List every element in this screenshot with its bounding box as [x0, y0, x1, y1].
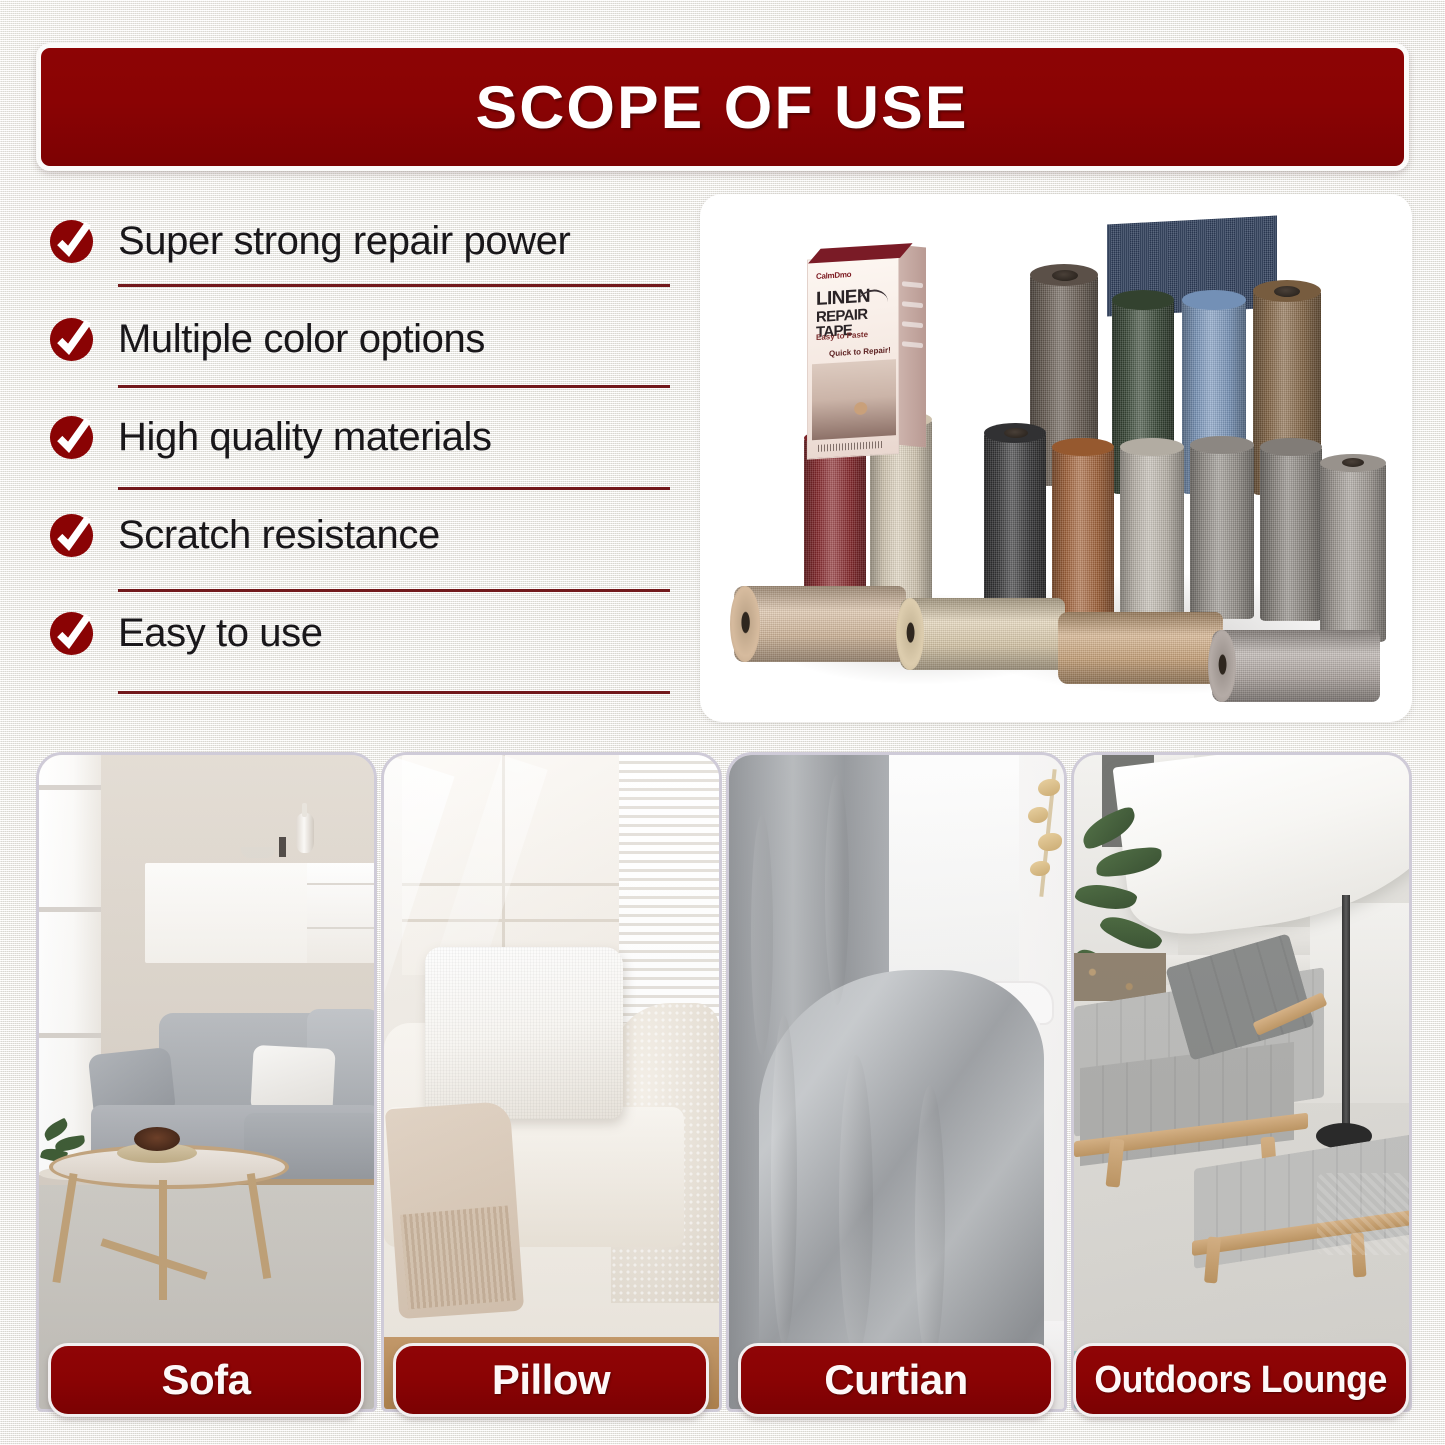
box-specs-strip	[818, 441, 884, 452]
box-top-flap	[808, 243, 913, 263]
check-circle-icon	[48, 610, 95, 657]
tape-roll-core	[1342, 458, 1364, 467]
product-photo-card: CalmDmo LINEN REPAIR TAPE Easy to Paste …	[700, 194, 1412, 722]
scene-gallery: Sofa Pillow Curtian Outdoors Lounge	[0, 752, 1445, 1445]
tape-roll-rust	[1052, 446, 1114, 616]
tape-roll-core	[1274, 286, 1300, 297]
check-circle-icon	[48, 218, 95, 265]
tape-roll-warm-gray	[1320, 462, 1386, 642]
header-banner: SCOPE OF USE	[36, 43, 1409, 171]
box-side-panel	[899, 245, 926, 448]
tape-roll-tan-lying	[1058, 612, 1223, 684]
tape-roll-end	[896, 598, 924, 670]
feature-label: Scratch resistance	[118, 513, 440, 558]
tape-roll-end	[730, 586, 760, 662]
tape-roll-sand-lying	[900, 598, 1065, 670]
box-front-panel: CalmDmo LINEN REPAIR TAPE Easy to Paste …	[807, 254, 899, 460]
label-text: Pillow	[492, 1356, 610, 1404]
feature-item-2: Multiple color options	[40, 290, 680, 388]
tape-roll-dark-gray	[1260, 446, 1322, 621]
tape-roll-top	[1120, 438, 1184, 456]
tape-roll-top	[1052, 438, 1114, 456]
tape-roll-top	[1182, 290, 1246, 310]
outdoors-lounge-scene-image	[1074, 755, 1409, 1409]
check-circle-icon	[48, 414, 95, 461]
infographic-page: SCOPE OF USE Super strong repair power M…	[0, 0, 1445, 1445]
feature-divider	[118, 589, 670, 592]
check-circle-icon	[48, 512, 95, 559]
gallery-label-outdoors-lounge: Outdoors Lounge	[1073, 1343, 1409, 1417]
gallery-card-pillow	[381, 752, 722, 1412]
feature-divider	[118, 487, 670, 490]
label-text: Outdoors Lounge	[1095, 1359, 1388, 1402]
pillow-scene-image	[384, 755, 719, 1409]
label-text: Sofa	[161, 1356, 250, 1404]
feature-item-3: High quality materials	[40, 388, 680, 486]
gallery-label-curtain: Curtian	[738, 1343, 1054, 1417]
feature-item-1: Super strong repair power	[40, 192, 680, 290]
feature-label: High quality materials	[118, 415, 492, 460]
tape-roll-charcoal	[984, 432, 1046, 612]
tape-roll-top	[1190, 436, 1254, 454]
tape-roll-collection-image: CalmDmo LINEN REPAIR TAPE Easy to Paste …	[700, 194, 1412, 722]
feature-label: Easy to use	[118, 611, 323, 656]
product-box: CalmDmo LINEN REPAIR TAPE Easy to Paste …	[807, 252, 925, 459]
box-photo	[812, 359, 896, 440]
tape-roll-light-gray	[1120, 446, 1184, 618]
tape-roll-gray	[1190, 444, 1254, 619]
tape-roll-red	[804, 437, 866, 602]
gallery-card-curtain	[726, 752, 1067, 1412]
feature-label: Multiple color options	[118, 317, 485, 362]
sofa-scene-image	[39, 755, 374, 1409]
feature-label: Super strong repair power	[118, 219, 570, 264]
gallery-card-sofa	[36, 752, 377, 1412]
feature-divider	[118, 284, 670, 287]
tape-roll-core	[1004, 428, 1028, 438]
label-text: Curtian	[824, 1356, 968, 1404]
tape-roll-end	[1054, 612, 1082, 684]
check-circle-icon	[48, 316, 95, 363]
brand-logo: CalmDmo	[816, 270, 851, 281]
feature-item-5: Easy to use	[40, 584, 680, 682]
feature-divider	[118, 385, 670, 388]
page-title: SCOPE OF USE	[476, 73, 969, 142]
gallery-label-sofa: Sofa	[48, 1343, 364, 1417]
tape-roll-end	[1208, 630, 1236, 702]
feature-item-4: Scratch resistance	[40, 486, 680, 584]
tape-roll-top	[1260, 438, 1322, 456]
gallery-label-pillow: Pillow	[393, 1343, 709, 1417]
tape-roll-mauve-lying	[1212, 630, 1380, 702]
box-tagline-1: Easy to Paste	[816, 330, 868, 342]
tape-roll-core	[1052, 270, 1078, 281]
box-tagline-2: Quick to Repair!	[829, 345, 891, 358]
tape-roll-top	[1112, 290, 1174, 310]
feature-divider	[118, 691, 670, 694]
feature-list: Super strong repair power Multiple color…	[40, 192, 680, 732]
curtain-scene-image	[729, 755, 1064, 1409]
gallery-card-outdoors-lounge	[1071, 752, 1412, 1412]
